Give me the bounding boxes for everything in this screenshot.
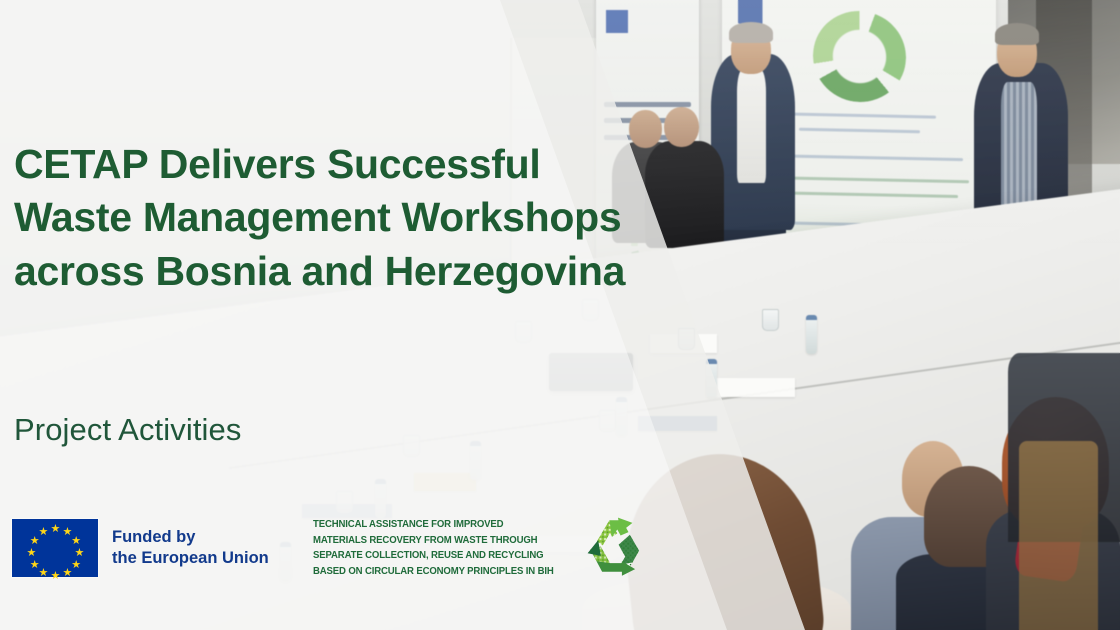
project-text-line-4: BASED ON CIRCULAR ECONOMY PRINCIPLES IN …	[313, 564, 554, 580]
project-logo: TECHNICAL ASSISTANCE FOR IMPROVED MATERI…	[313, 515, 649, 581]
standing-person-right-shirt	[1001, 82, 1037, 214]
eu-funding-logo: ★ ★ ★ ★ ★ ★ ★ ★ ★ ★ ★ ★ Funded by the Eu…	[12, 519, 269, 577]
project-logo-text: TECHNICAL ASSISTANCE FOR IMPROVED MATERI…	[313, 517, 554, 579]
water-bottle	[706, 359, 717, 398]
standing-person-hair	[729, 22, 773, 43]
eu-text-line-2: the European Union	[112, 548, 269, 569]
project-text-line-3: SEPARATE COLLECTION, REUSE AND RECYCLING	[313, 548, 554, 564]
banner-content: CETAP Delivers Successful Waste Manageme…	[0, 0, 640, 630]
project-text-line-1: TECHNICAL ASSISTANCE FOR IMPROVED	[313, 517, 554, 533]
slide-recycling-logo	[813, 11, 906, 104]
category-label: Project Activities	[14, 412, 242, 448]
eu-funding-text: Funded by the European Union	[112, 527, 269, 570]
standing-person-shirt	[737, 69, 766, 182]
table-paper	[706, 378, 796, 397]
water-glass	[678, 328, 695, 350]
standing-person-right-hair	[995, 23, 1040, 46]
recycling-icon	[579, 515, 649, 581]
eu-text-line-1: Funded by	[112, 527, 269, 548]
article-banner: CETAP Delivers Successful Waste Manageme…	[0, 0, 1120, 630]
wooden-chair	[1019, 441, 1097, 630]
seated-person-body	[645, 141, 723, 248]
project-text-line-2: MATERIALS RECOVERY FROM WASTE THROUGH	[313, 533, 554, 549]
water-glass	[762, 309, 779, 331]
table-paper	[638, 416, 716, 431]
eu-flag-icon: ★ ★ ★ ★ ★ ★ ★ ★ ★ ★ ★ ★	[12, 519, 98, 577]
seated-person-head	[664, 107, 699, 147]
logo-bar: ★ ★ ★ ★ ★ ★ ★ ★ ★ ★ ★ ★ Funded by the Eu…	[12, 515, 649, 581]
page-title: CETAP Delivers Successful Waste Manageme…	[14, 138, 634, 298]
water-bottle	[806, 315, 817, 354]
